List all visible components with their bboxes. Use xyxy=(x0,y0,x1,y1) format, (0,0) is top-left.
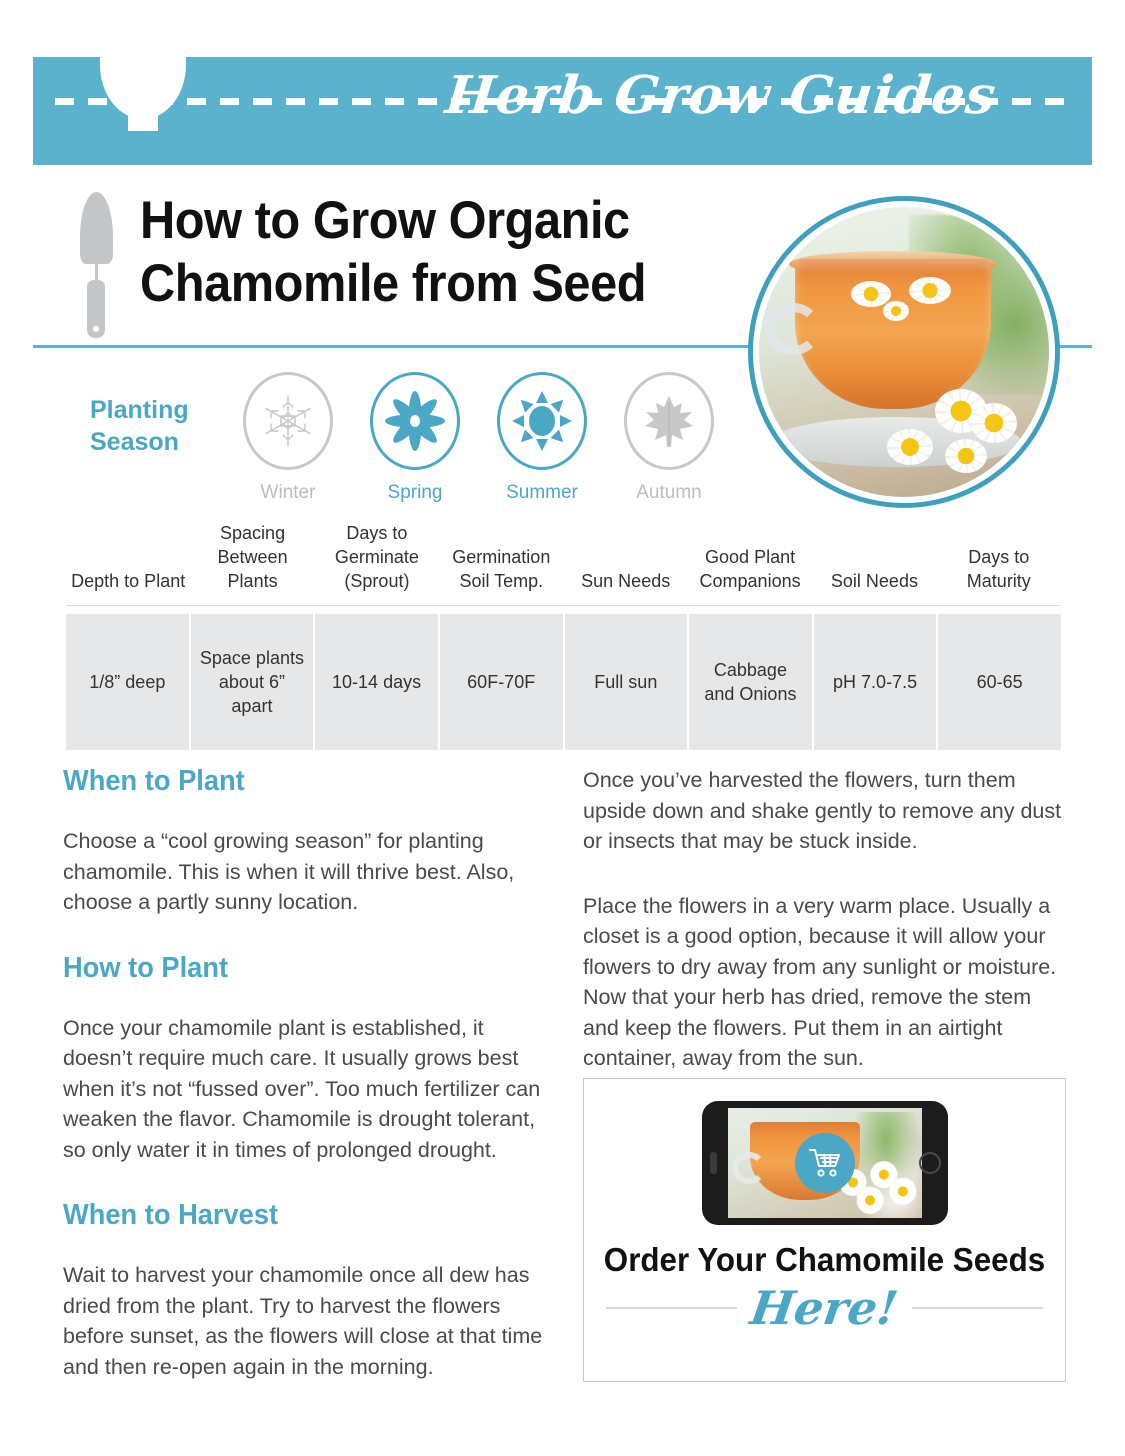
planting-season-row: Planting Season Winter xyxy=(60,372,750,502)
season-item-autumn[interactable]: Autumn xyxy=(609,372,729,504)
season-circle-autumn xyxy=(624,372,714,470)
table-header-cell: Good Plant Companions xyxy=(688,522,812,605)
page-title-line-2: Chamomile from Seed xyxy=(140,253,692,316)
order-here-row: Here! xyxy=(606,1285,1043,1331)
table-header-cell: Depth to Plant xyxy=(66,522,190,605)
season-item-spring[interactable]: Spring xyxy=(355,372,475,504)
table-cell: 60F-70F xyxy=(440,614,563,750)
season-name-autumn: Autumn xyxy=(609,482,729,504)
planting-season-label-line-2: Season xyxy=(90,426,240,458)
table-header-cell: Days to Maturity xyxy=(937,522,1061,605)
sun-icon xyxy=(510,389,574,453)
page-title-line-1: How to Grow Organic xyxy=(140,190,692,253)
section-heading-when-to-plant: When to Plant xyxy=(63,765,514,798)
chamomile-tea-photo xyxy=(748,196,1060,508)
season-circle-summer xyxy=(497,372,587,470)
season-circle-spring xyxy=(370,372,460,470)
season-name-summer: Summer xyxy=(482,482,602,504)
season-circle-winter xyxy=(243,372,333,470)
flower-icon xyxy=(382,388,448,454)
table-cell: Full sun xyxy=(565,614,688,750)
right-content-column: Once you’ve harvested the flowers, turn … xyxy=(583,765,1068,1108)
table-header-cell: Soil Needs xyxy=(812,522,936,605)
phone-mockup-icon xyxy=(702,1101,948,1225)
table-cell: Cabbage and Onions xyxy=(689,614,812,750)
section-body-when-to-harvest: Wait to harvest your chamomile once all … xyxy=(63,1260,543,1382)
cup-logo-icon xyxy=(100,45,186,145)
shopping-cart-glyph xyxy=(808,1147,842,1179)
table-cell: pH 7.0-7.5 xyxy=(814,614,937,750)
section-heading-how-to-plant: How to Plant xyxy=(63,952,514,985)
snowflake-icon xyxy=(260,393,316,449)
banner-title: Herb Grow Guides xyxy=(443,65,1000,126)
season-item-winter[interactable]: Winter xyxy=(228,372,348,504)
shopping-cart-icon[interactable] xyxy=(795,1133,855,1193)
section-body-when-to-plant: Choose a “cool growing season” for plant… xyxy=(63,826,543,918)
trowel-icon xyxy=(74,192,118,340)
planting-season-label: Planting Season xyxy=(90,394,240,458)
order-seeds-callout[interactable]: Order Your Chamomile Seeds Here! xyxy=(583,1078,1066,1382)
table-header-row: Depth to Plant Spacing Between Plants Da… xyxy=(66,522,1061,605)
here-rule-right xyxy=(912,1307,1043,1309)
section-heading-when-to-harvest: When to Harvest xyxy=(63,1199,514,1232)
table-cell: 1/8” deep xyxy=(66,614,189,750)
table-header-cell: Days to Germinate (Sprout) xyxy=(315,522,439,605)
here-rule-left xyxy=(606,1307,737,1309)
table-header-cell: Germination Soil Temp. xyxy=(439,522,563,605)
right-paragraph-2: Place the flowers in a very warm place. … xyxy=(583,891,1068,1074)
table-header-cell: Spacing Between Plants xyxy=(190,522,314,605)
season-item-summer[interactable]: Summer xyxy=(482,372,602,504)
section-body-how-to-plant: Once your chamomile plant is established… xyxy=(63,1013,543,1166)
header-banner: Herb Grow Guides xyxy=(33,57,1092,165)
left-content-column: When to Plant Choose a “cool growing sea… xyxy=(63,765,543,1416)
season-name-winter: Winter xyxy=(228,482,348,504)
page-title: How to Grow Organic Chamomile from Seed xyxy=(140,190,740,315)
planting-season-label-line-1: Planting xyxy=(90,394,240,426)
season-name-spring: Spring xyxy=(355,482,475,504)
table-row: 1/8” deep Space plants about 6” apart 10… xyxy=(66,605,1061,750)
grow-specs-table: Depth to Plant Spacing Between Plants Da… xyxy=(66,522,1061,750)
order-callout-title: Order Your Chamomile Seeds xyxy=(596,1241,1053,1279)
table-cell: Space plants about 6” apart xyxy=(191,614,314,750)
leaf-icon xyxy=(642,393,696,449)
order-here-link[interactable]: Here! xyxy=(744,1285,905,1331)
table-cell: 10-14 days xyxy=(315,614,438,750)
table-header-cell: Sun Needs xyxy=(564,522,688,605)
table-cell: 60-65 xyxy=(938,614,1061,750)
phone-screen-photo xyxy=(728,1108,922,1218)
right-paragraph-1: Once you’ve harvested the flowers, turn … xyxy=(583,765,1068,857)
